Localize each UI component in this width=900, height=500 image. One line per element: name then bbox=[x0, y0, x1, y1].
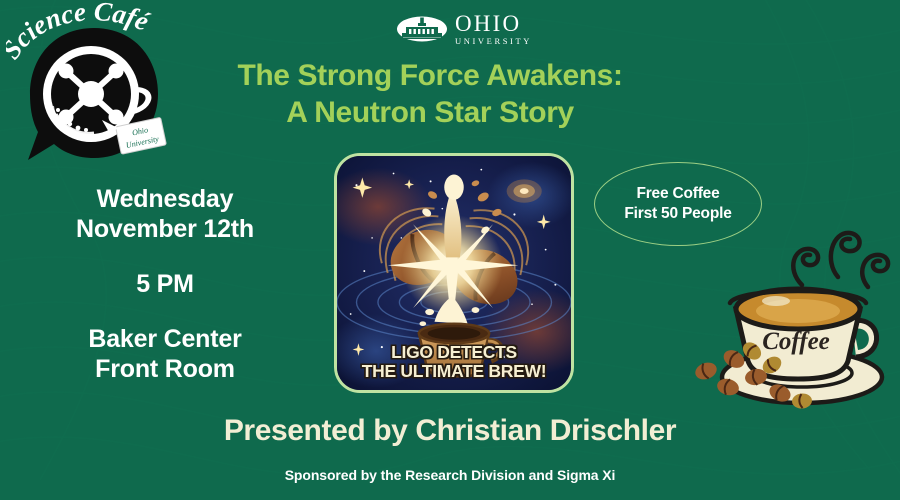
cutler-hall-oval-icon bbox=[396, 15, 448, 43]
science-cafe-logo: Science Café Ohio University bbox=[6, 2, 176, 162]
event-poster: Science Café Ohio University bbox=[0, 0, 900, 500]
event-venue-line-2: Front Room bbox=[20, 355, 310, 385]
badge-line-2: First 50 People bbox=[624, 204, 731, 224]
poster-title: The Strong Force Awakens: A Neutron Star… bbox=[170, 58, 690, 131]
event-details: Wednesday November 12th 5 PM Baker Cente… bbox=[20, 185, 310, 384]
badge-line-1: Free Coffee bbox=[636, 184, 719, 204]
coffee-cup-illustration: Coffee bbox=[690, 225, 900, 420]
ohio-wordmark: OHIO bbox=[455, 12, 532, 35]
artwork-caption: LIGO DETECTS THE ULTIMATE BREW! bbox=[337, 343, 571, 382]
ohio-subtext: UNIVERSITY bbox=[455, 37, 532, 46]
title-line-2: A Neutron Star Story bbox=[170, 95, 690, 132]
presenter-line: Presented by Christian Drischler bbox=[0, 414, 900, 448]
event-day: Wednesday bbox=[20, 185, 310, 215]
event-venue-line-1: Baker Center bbox=[20, 325, 310, 355]
ohio-university-logo: OHIO UNIVERSITY bbox=[396, 12, 532, 46]
neutron-star-coffee-artwork: LIGO DETECTS THE ULTIMATE BREW! bbox=[334, 153, 574, 393]
event-time: 5 PM bbox=[20, 270, 310, 299]
title-line-1: The Strong Force Awakens: bbox=[237, 59, 622, 92]
event-date: November 12th bbox=[20, 215, 310, 245]
sponsor-line: Sponsored by the Research Division and S… bbox=[0, 467, 900, 483]
cup-label: Coffee bbox=[762, 328, 830, 355]
artwork-caption-line-1: LIGO DETECTS bbox=[337, 343, 571, 363]
artwork-caption-line-2: THE ULTIMATE BREW! bbox=[337, 362, 571, 382]
